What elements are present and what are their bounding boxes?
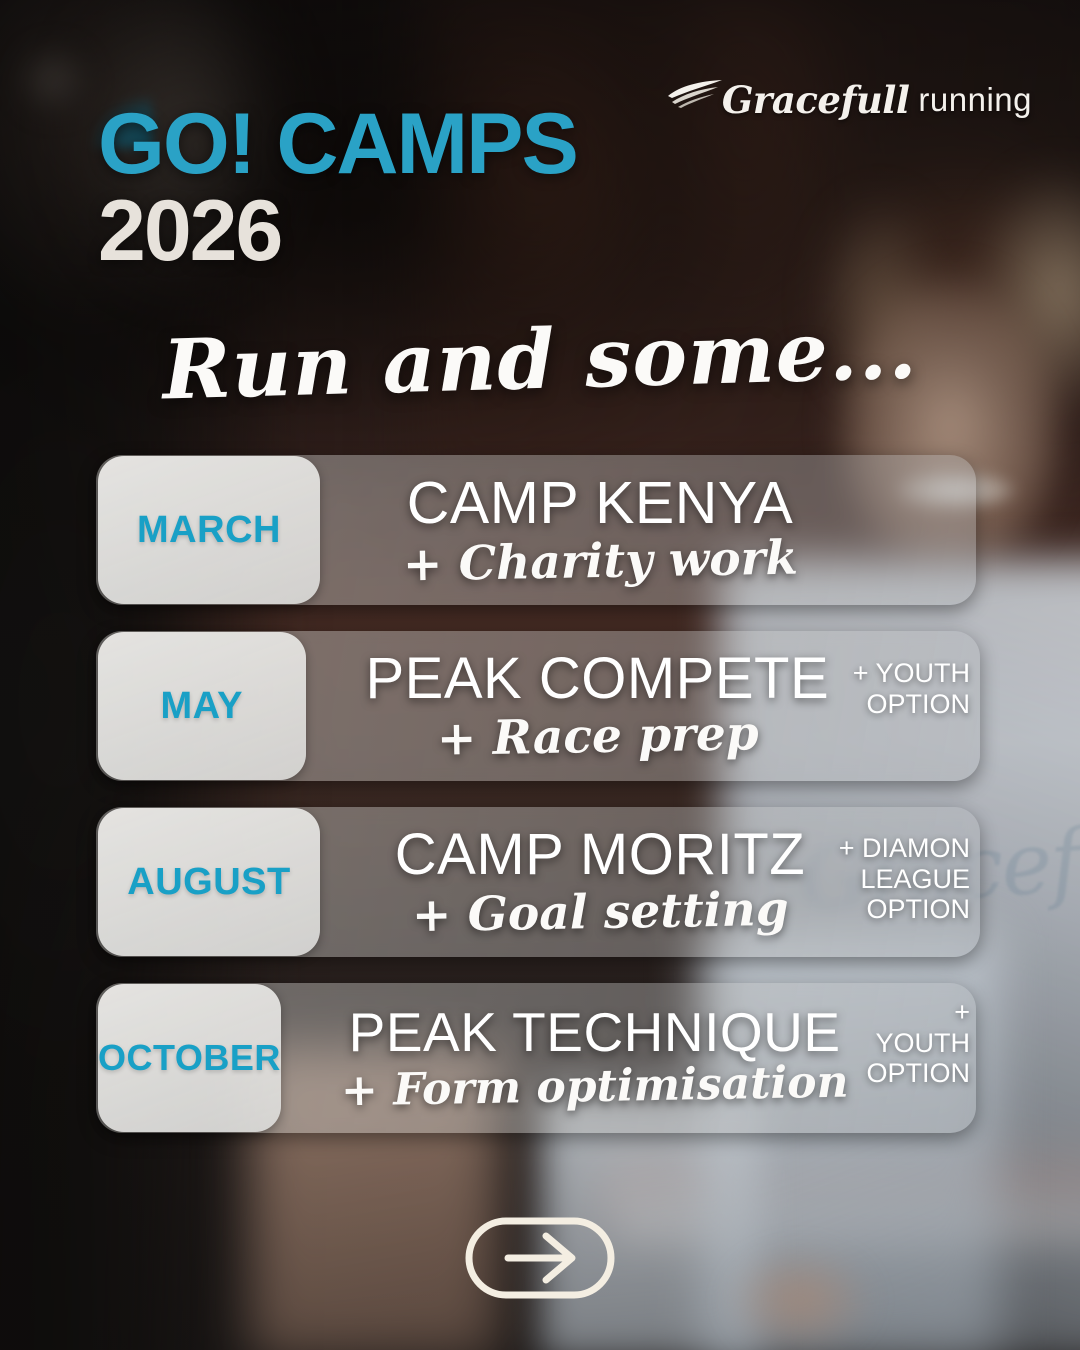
camp-row[interactable]: MAY PEAK COMPETE + Race prep + YOUTH OPT… (96, 631, 984, 781)
camp-subtitle: + Form optimisation (340, 1060, 848, 1115)
camp-row[interactable]: OCTOBER PEAK TECHNIQUE + Form optimisati… (96, 983, 984, 1133)
camp-subtitle: + Goal setting (411, 885, 788, 941)
brand-script-name: Gracefull (722, 78, 910, 122)
option-badge: + YOUTH OPTION (839, 658, 970, 720)
camp-row[interactable]: AUGUST CAMP MORITZ + Goal setting + DIAM… (96, 807, 984, 957)
poster-content: Gracefull running GO! CAMPS 2026 Run and… (0, 0, 1080, 1350)
camp-name: PEAK COMPETE (366, 650, 830, 708)
month-chip[interactable]: MARCH (98, 456, 320, 604)
page-title: GO! CAMPS 2026 (98, 104, 577, 272)
month-label: AUGUST (127, 861, 290, 904)
option-badge: + DIAMON LEAGUE OPTION (830, 833, 970, 925)
arrow-right-icon (464, 1216, 616, 1300)
option-badge: + YOUTH OPTION (858, 997, 970, 1089)
camp-details: PEAK TECHNIQUE + Form optimisation (281, 1005, 859, 1110)
camp-details: PEAK COMPETE + Race prep (306, 650, 840, 761)
camp-name: PEAK TECHNIQUE (349, 1005, 841, 1060)
title-line-1: GO! CAMPS (98, 104, 577, 185)
month-label: MARCH (137, 509, 281, 552)
month-label: OCTOBER (98, 1037, 281, 1079)
camp-name: CAMP MORITZ (395, 826, 805, 884)
camp-list: MARCH CAMP KENYA + Charity work MAY PEAK… (96, 455, 984, 1159)
next-button[interactable] (464, 1216, 616, 1300)
camp-subtitle: + Race prep (436, 710, 758, 765)
camp-name: CAMP KENYA (407, 474, 793, 533)
camp-details: CAMP KENYA + Charity work (320, 474, 830, 586)
camp-row[interactable]: MARCH CAMP KENYA + Charity work (96, 455, 984, 605)
brand-logo: Gracefull running (666, 78, 1032, 122)
month-chip[interactable]: OCTOBER (98, 984, 281, 1132)
wing-swoosh-icon (666, 78, 726, 108)
camp-subtitle: + Charity work (402, 533, 798, 589)
brand-word-name: running (918, 81, 1032, 119)
title-line-2: 2026 (98, 191, 577, 272)
tagline: Run and some... (0, 297, 1080, 423)
month-chip[interactable]: AUGUST (98, 808, 320, 956)
poster-canvas: Gracefull r Gracefull running GO! CAMPS … (0, 0, 1080, 1350)
month-label: MAY (161, 685, 243, 728)
month-chip[interactable]: MAY (98, 632, 306, 780)
camp-details: CAMP MORITZ + Goal setting (320, 826, 830, 937)
